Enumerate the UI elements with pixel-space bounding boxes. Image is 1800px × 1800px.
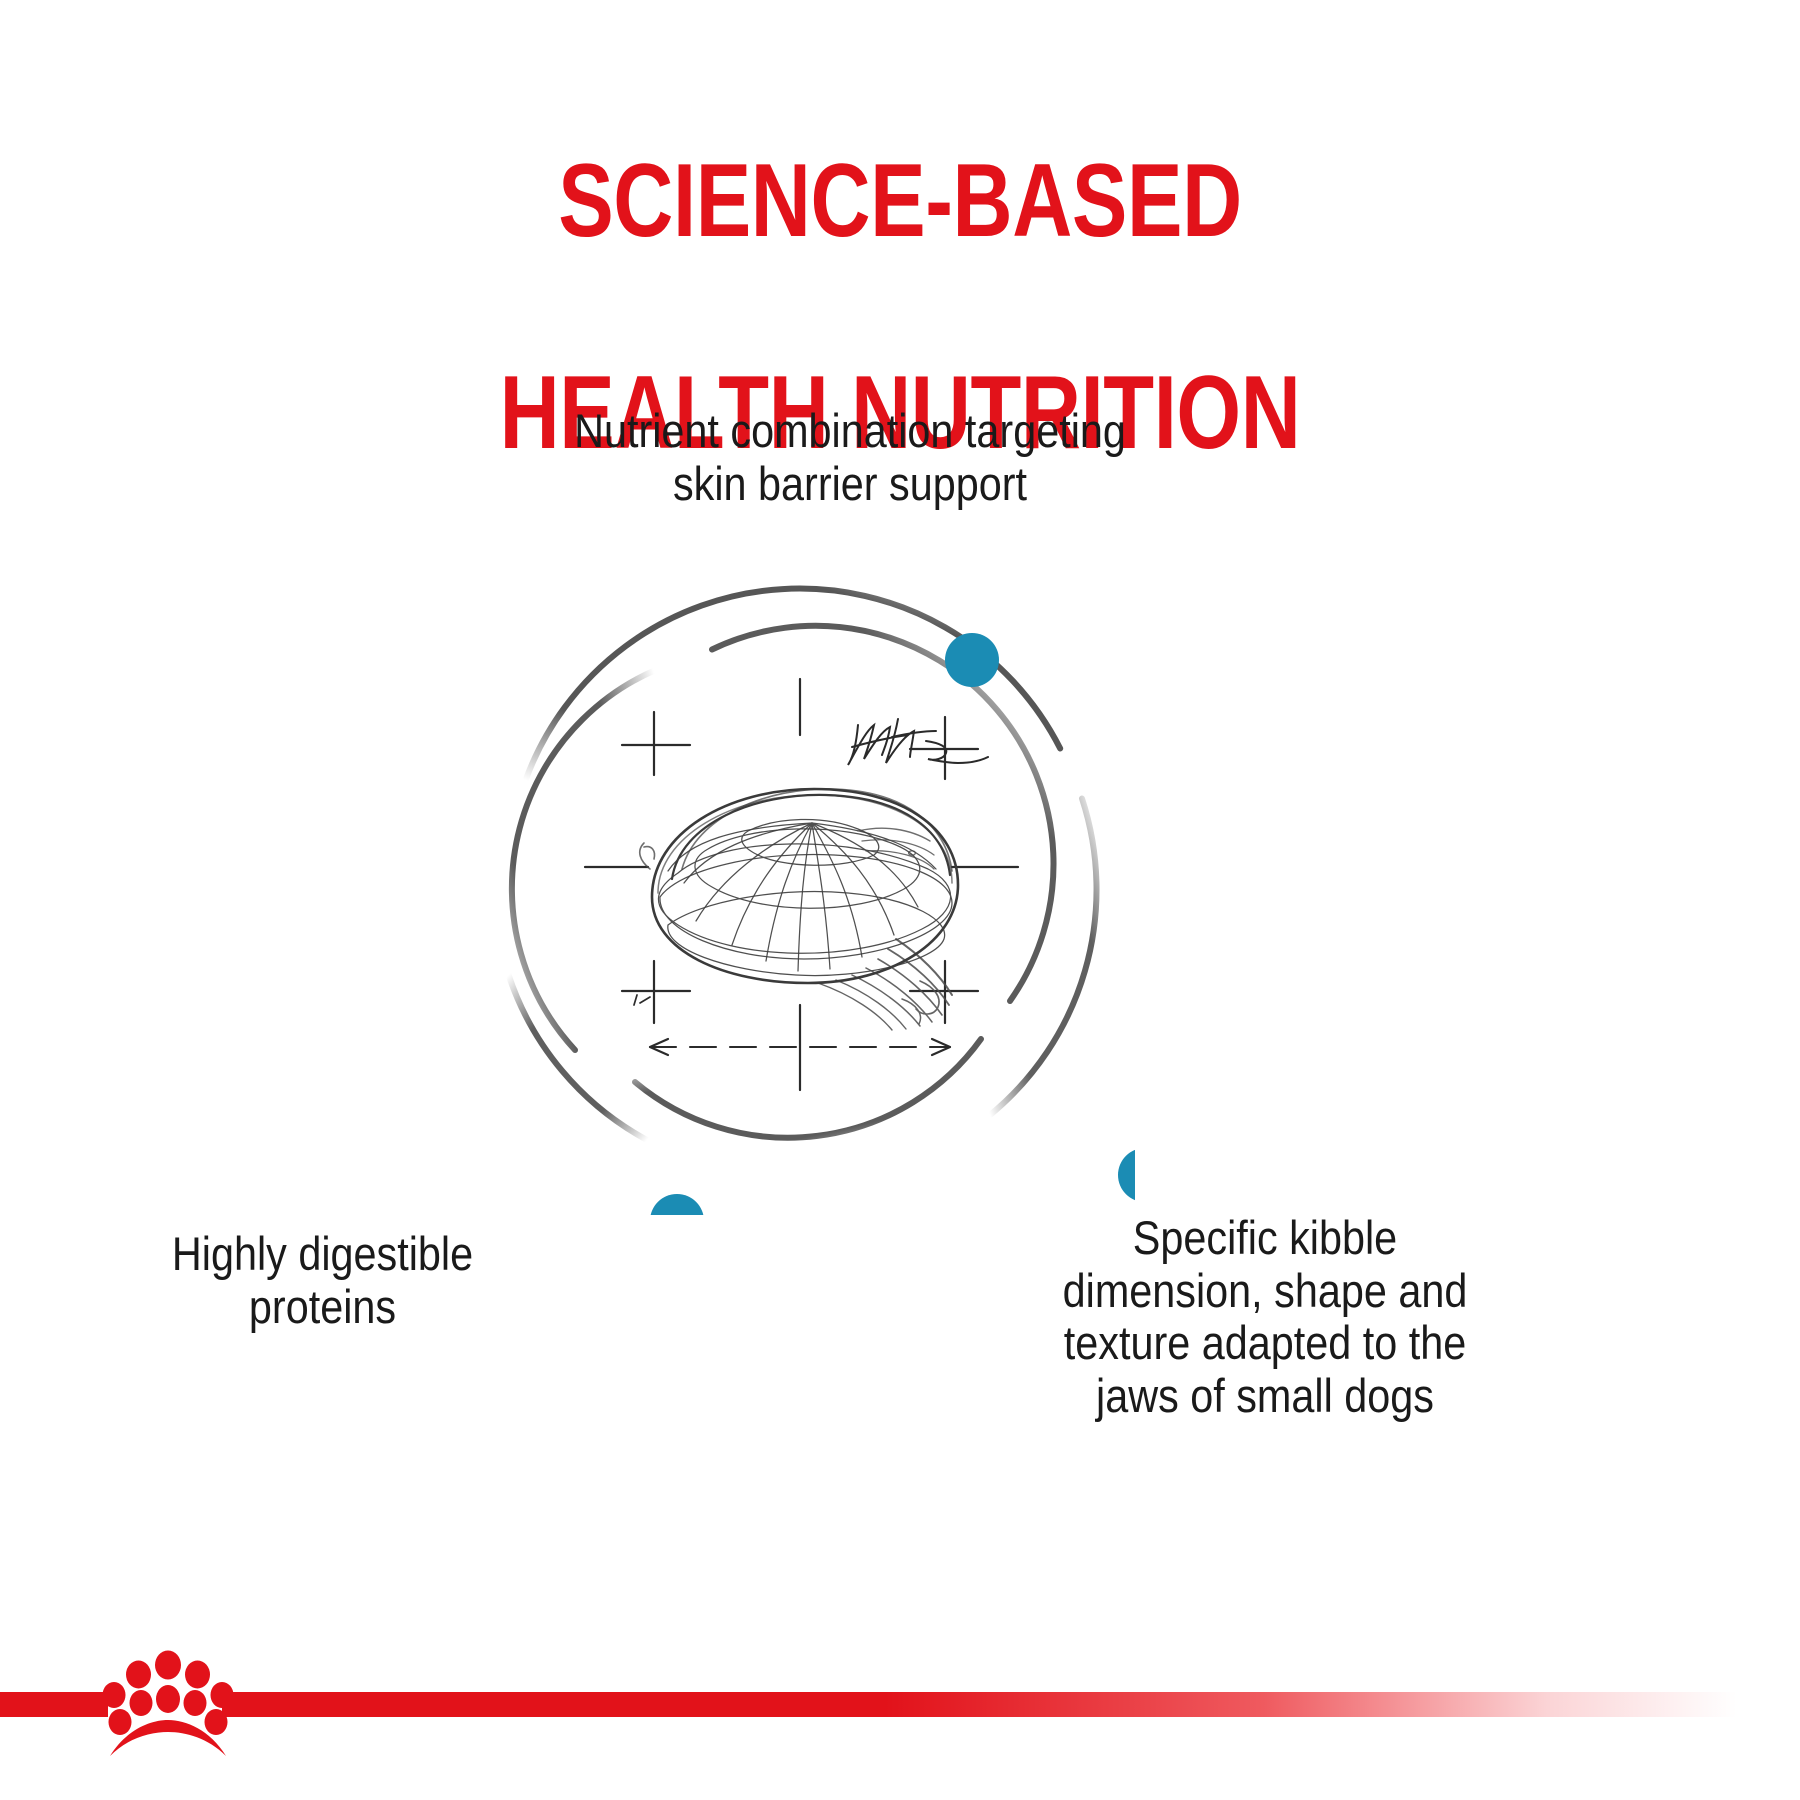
royal-canin-crown-logo xyxy=(98,1650,238,1768)
feature-label-kibble-dimension: Specific kibble dimension, shape and tex… xyxy=(1036,1212,1494,1423)
feature-label-nutrient-combination: Nutrient combination targeting skin barr… xyxy=(450,405,1251,510)
registration-marks xyxy=(585,679,1018,1090)
footer xyxy=(0,1686,1800,1800)
feature-node-left[interactable] xyxy=(650,1194,704,1215)
footer-bar-right xyxy=(222,1692,1800,1717)
designer-signature xyxy=(848,719,988,765)
shading-hatch xyxy=(818,939,952,1030)
footer-bar-left xyxy=(0,1692,108,1717)
feature-node-top[interactable] xyxy=(945,633,999,687)
feature-label-digestible-proteins: Highly digestible proteins xyxy=(105,1228,541,1333)
page-title-line-1: SCIENCE-BASED xyxy=(180,148,1620,254)
radial-feature-diagram xyxy=(465,545,1135,1215)
inner-arc-topright xyxy=(712,626,1054,1001)
inner-arc-bottom xyxy=(635,1039,981,1138)
kibble-technical-sketch xyxy=(585,679,1018,1090)
inner-ring xyxy=(512,626,1054,1138)
feature-node-right[interactable] xyxy=(1118,1148,1135,1202)
poster-canvas: SCIENCE-BASED HEALTH NUTRITION Nutrient … xyxy=(0,0,1800,1800)
outer-arc-right xyxy=(990,799,1097,1116)
outer-arc-bottomleft xyxy=(509,975,647,1140)
